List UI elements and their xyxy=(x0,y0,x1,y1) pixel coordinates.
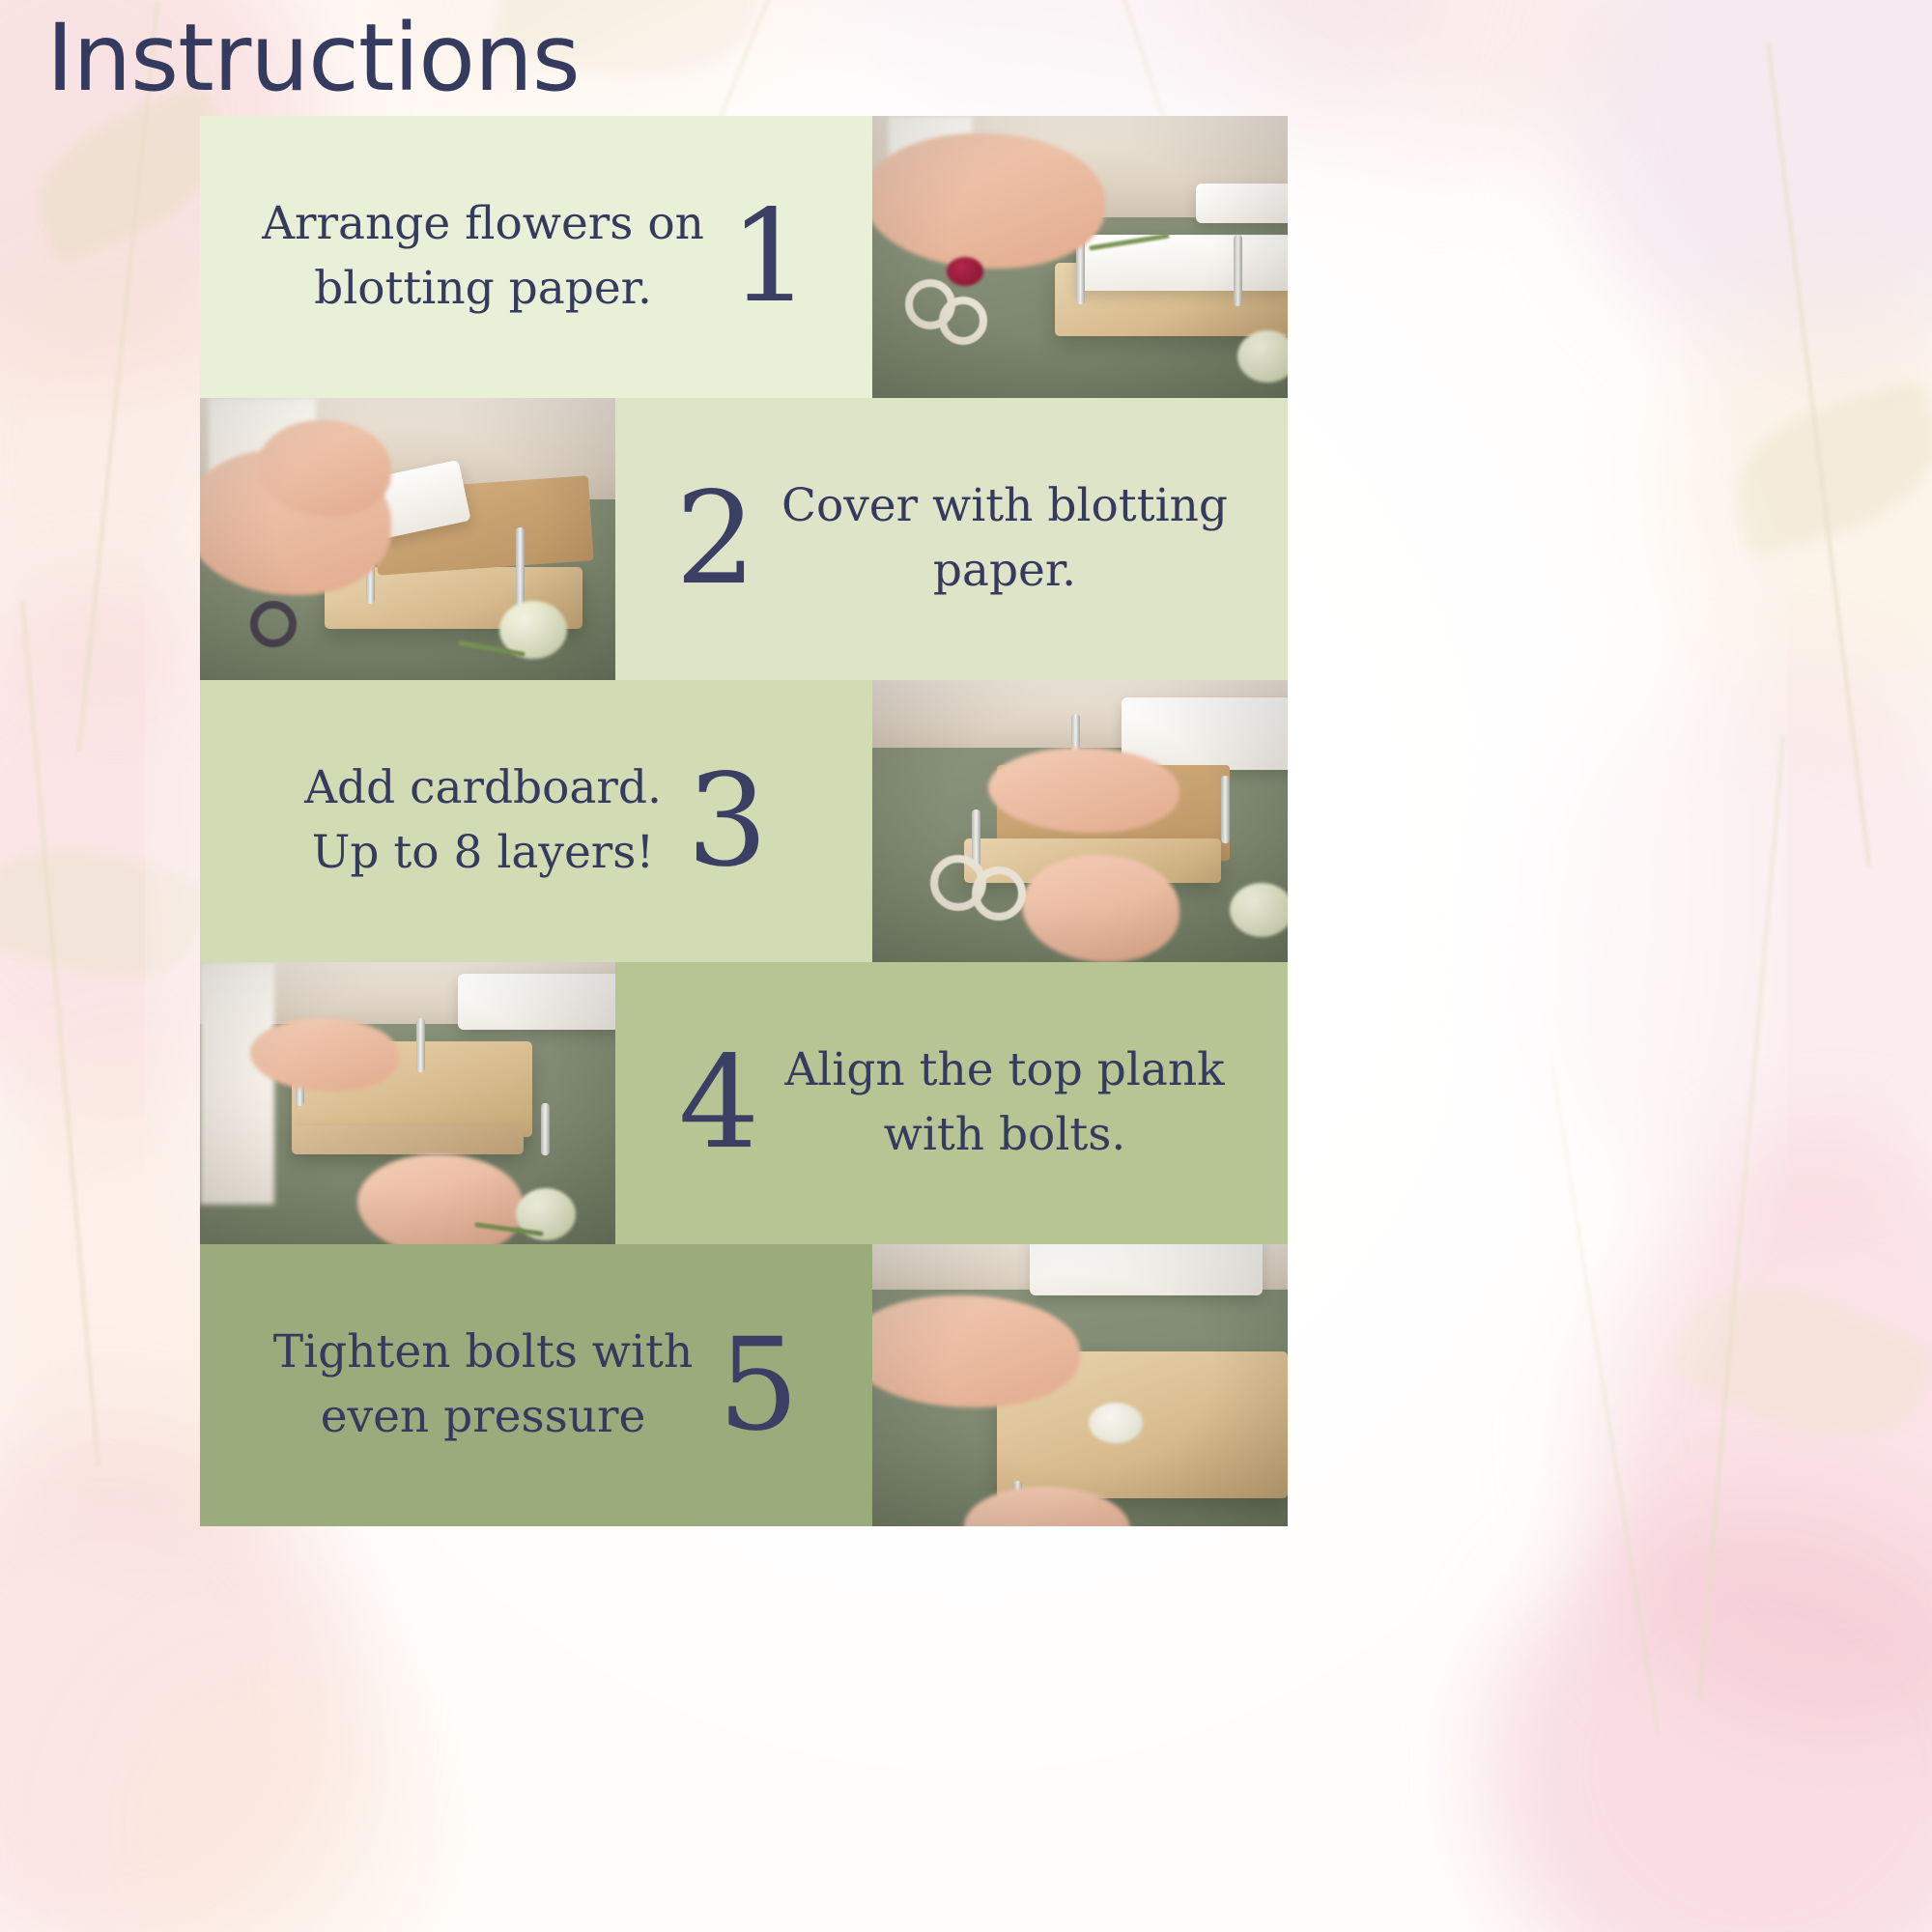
step-4-number: 4 xyxy=(678,1039,759,1167)
step-row-4: 4 Align the top plank with bolts. xyxy=(200,962,1288,1244)
step-2-image xyxy=(200,398,615,680)
step-1-image xyxy=(872,116,1288,398)
step-row-5: Tighten bolts with even pressure 5 xyxy=(200,1244,1288,1526)
step-row-1: Arrange flowers on blotting paper. 1 xyxy=(200,116,1288,398)
step-4-image xyxy=(200,962,615,1244)
step-4-text: Align the top plank with bolts. xyxy=(784,1038,1224,1167)
step-3-number: 3 xyxy=(687,757,768,885)
step-5-number: 5 xyxy=(718,1321,799,1449)
step-2-text: Cover with blotting paper. xyxy=(781,474,1228,603)
step-3-image xyxy=(872,680,1288,962)
step-1-number: 1 xyxy=(729,193,810,321)
step-3-text: Add cardboard. Up to 8 layers! xyxy=(304,756,662,885)
step-1-text-panel: Arrange flowers on blotting paper. 1 xyxy=(200,116,872,398)
step-5-image xyxy=(872,1244,1288,1526)
step-5-text: Tighten bolts with even pressure xyxy=(273,1321,693,1449)
step-5-text-panel: Tighten bolts with even pressure 5 xyxy=(200,1244,872,1526)
step-3-text-panel: Add cardboard. Up to 8 layers! 3 xyxy=(200,680,872,962)
step-2-text-panel: 2 Cover with blotting paper. xyxy=(615,398,1288,680)
step-row-3: Add cardboard. Up to 8 layers! 3 xyxy=(200,680,1288,962)
page-title: Instructions xyxy=(46,8,580,110)
instruction-steps-list: Arrange flowers on blotting paper. 1 xyxy=(200,116,1288,1526)
step-4-text-panel: 4 Align the top plank with bolts. xyxy=(615,962,1288,1244)
step-row-2: 2 Cover with blotting paper. xyxy=(200,398,1288,680)
step-2-number: 2 xyxy=(675,475,756,603)
step-1-text: Arrange flowers on blotting paper. xyxy=(262,192,704,321)
